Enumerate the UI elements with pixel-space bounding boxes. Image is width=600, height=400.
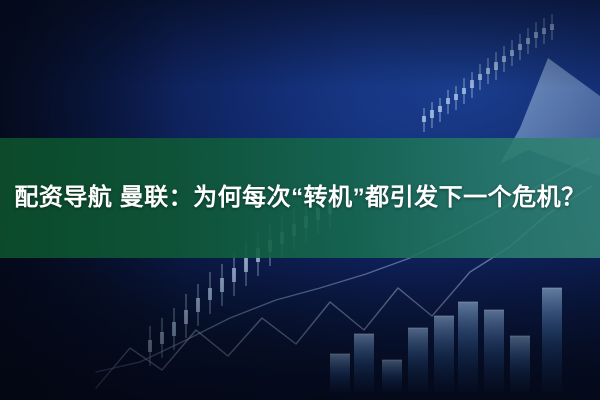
banner-image: 配资导航 曼联：为何每次“转机”都引发下一个危机？ — [0, 0, 600, 400]
page-title: 配资导航 曼联：为何每次“转机”都引发下一个危机？ — [10, 179, 590, 217]
headline-band: 配资导航 曼联：为何每次“转机”都引发下一个危机？ — [0, 138, 600, 258]
